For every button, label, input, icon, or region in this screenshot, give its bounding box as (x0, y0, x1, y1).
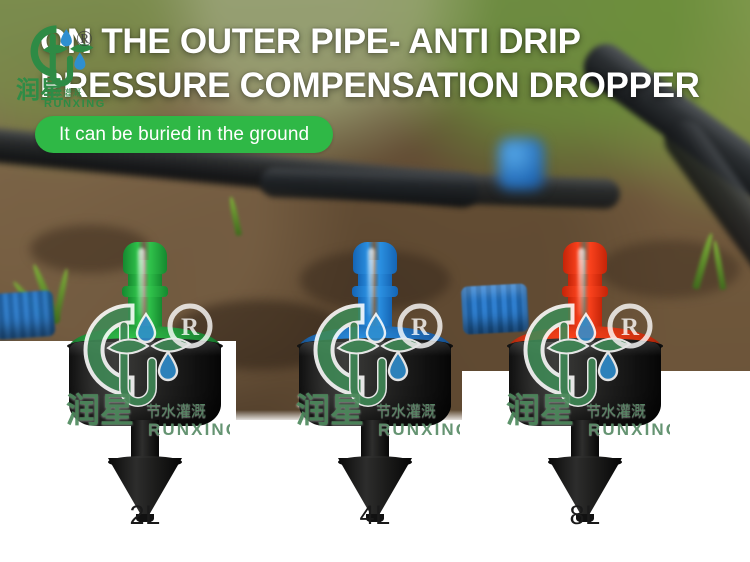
barb-head (123, 242, 167, 274)
product-banner: R 润星 节水灌溉 RUNXING (0, 0, 750, 562)
barb-head (563, 242, 607, 274)
barb-highlight (138, 248, 145, 316)
subtitle-text: It can be buried in the ground (59, 124, 309, 146)
product-label-2l: 2L (60, 500, 230, 531)
barb-ring (562, 286, 608, 297)
registered-mark: ® (76, 26, 93, 52)
barb-nipple (562, 242, 608, 334)
subtitle-badge: It can be buried in the ground (35, 116, 333, 153)
blue-pipe-connector (0, 290, 56, 340)
barb-nipple (122, 242, 168, 334)
dropper-body (69, 342, 221, 426)
product-label-8l: 8L (500, 500, 670, 531)
dropper-body (299, 342, 451, 426)
page-title: ON THE OUTER PIPE- ANTI DRIP PRESSURE CO… (40, 24, 746, 103)
blue-fitting-blurred (498, 138, 544, 190)
barb-ring (122, 286, 168, 297)
dropper-body (509, 342, 661, 426)
product-label-4l: 4L (290, 500, 460, 531)
barb-highlight (368, 248, 375, 316)
brand-logo: ® 润星 节水灌溉 RUNXING (14, 18, 126, 118)
brand-name-en: RUNXING (44, 98, 106, 110)
headline-line-2: PRESSURE COMPENSATION DROPPER (40, 68, 746, 104)
barb-highlight (578, 248, 585, 316)
headline-line-1: ON THE OUTER PIPE- ANTI DRIP (40, 24, 746, 60)
barb-head (353, 242, 397, 274)
barb-nipple (352, 242, 398, 334)
barb-ring (352, 286, 398, 297)
